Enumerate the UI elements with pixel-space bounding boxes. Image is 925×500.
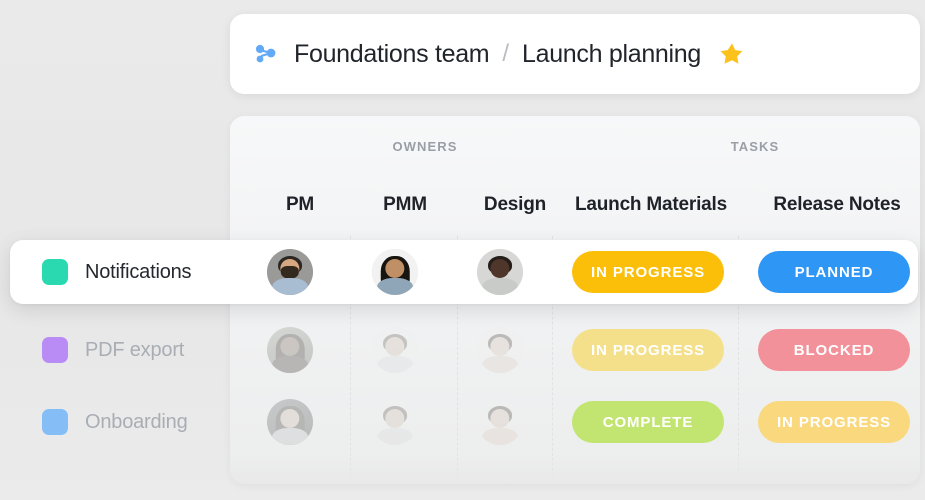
row-name-cell[interactable]: PDF export	[42, 318, 242, 382]
avatar	[267, 327, 313, 373]
row-color-swatch	[42, 337, 68, 363]
task-cell-release-notes[interactable]: IN PROGRESS	[748, 390, 920, 454]
table-row-active[interactable]: Notifications	[10, 240, 918, 304]
avatar	[372, 399, 418, 445]
column-header-design[interactable]: Design	[460, 194, 570, 216]
status-badge[interactable]: IN PROGRESS	[758, 401, 910, 443]
column-header-pm[interactable]: PM	[250, 194, 350, 216]
column-group-header-row: OWNERS TASKS	[230, 116, 920, 176]
row-title: Notifications	[85, 261, 191, 284]
avatar	[372, 327, 418, 373]
task-cell-release-notes[interactable]: BLOCKED	[748, 318, 920, 382]
row-color-swatch	[42, 259, 68, 285]
task-cell-release-notes[interactable]: PLANNED	[748, 240, 920, 304]
avatar	[267, 249, 313, 295]
row-name-cell[interactable]: Onboarding	[42, 390, 242, 454]
app-root: Foundations team / Launch planning OWNER…	[0, 0, 925, 500]
avatar	[267, 399, 313, 445]
breadcrumb-separator: /	[502, 40, 509, 68]
network-nodes-icon	[252, 39, 282, 69]
avatar	[477, 327, 523, 373]
owner-cell-pmm[interactable]	[355, 318, 435, 382]
column-header-release-notes[interactable]: Release Notes	[742, 194, 920, 216]
row-title: Onboarding	[85, 411, 188, 434]
owner-cell-pmm[interactable]	[355, 240, 435, 304]
task-cell-launch-materials[interactable]: IN PROGRESS	[562, 318, 734, 382]
row-name-cell[interactable]: Notifications	[42, 240, 242, 304]
owner-cell-pm[interactable]	[250, 240, 330, 304]
row-color-swatch	[42, 409, 68, 435]
row-title: PDF export	[85, 339, 184, 362]
breadcrumb-team[interactable]: Foundations team	[294, 40, 489, 69]
owner-cell-design[interactable]	[460, 390, 540, 454]
owner-cell-pm[interactable]	[250, 390, 330, 454]
owner-cell-design[interactable]	[460, 240, 540, 304]
card-bottom-fade	[230, 454, 920, 484]
column-header-pmm[interactable]: PMM	[350, 194, 460, 216]
breadcrumb-page-title[interactable]: Launch planning	[522, 40, 701, 69]
task-cell-launch-materials[interactable]: COMPLETE	[562, 390, 734, 454]
column-group-owners: OWNERS	[310, 139, 540, 154]
owner-cell-design[interactable]	[460, 318, 540, 382]
status-badge[interactable]: COMPLETE	[572, 401, 724, 443]
table-row[interactable]: PDF export	[10, 318, 918, 382]
owner-cell-pm[interactable]	[250, 318, 330, 382]
table-row[interactable]: Onboarding	[10, 390, 918, 454]
star-icon[interactable]	[719, 41, 745, 67]
column-header-row: PM PMM Design Launch Materials Release N…	[230, 176, 920, 234]
column-group-tasks: TASKS	[600, 139, 910, 154]
avatar	[477, 249, 523, 295]
status-badge[interactable]: IN PROGRESS	[572, 329, 724, 371]
avatar	[372, 249, 418, 295]
status-badge[interactable]: IN PROGRESS	[572, 251, 724, 293]
task-cell-launch-materials[interactable]: IN PROGRESS	[562, 240, 734, 304]
column-header-launch-materials[interactable]: Launch Materials	[556, 194, 746, 216]
owner-cell-pmm[interactable]	[355, 390, 435, 454]
status-badge[interactable]: PLANNED	[758, 251, 910, 293]
breadcrumb-card: Foundations team / Launch planning	[230, 14, 920, 94]
avatar	[477, 399, 523, 445]
status-badge[interactable]: BLOCKED	[758, 329, 910, 371]
